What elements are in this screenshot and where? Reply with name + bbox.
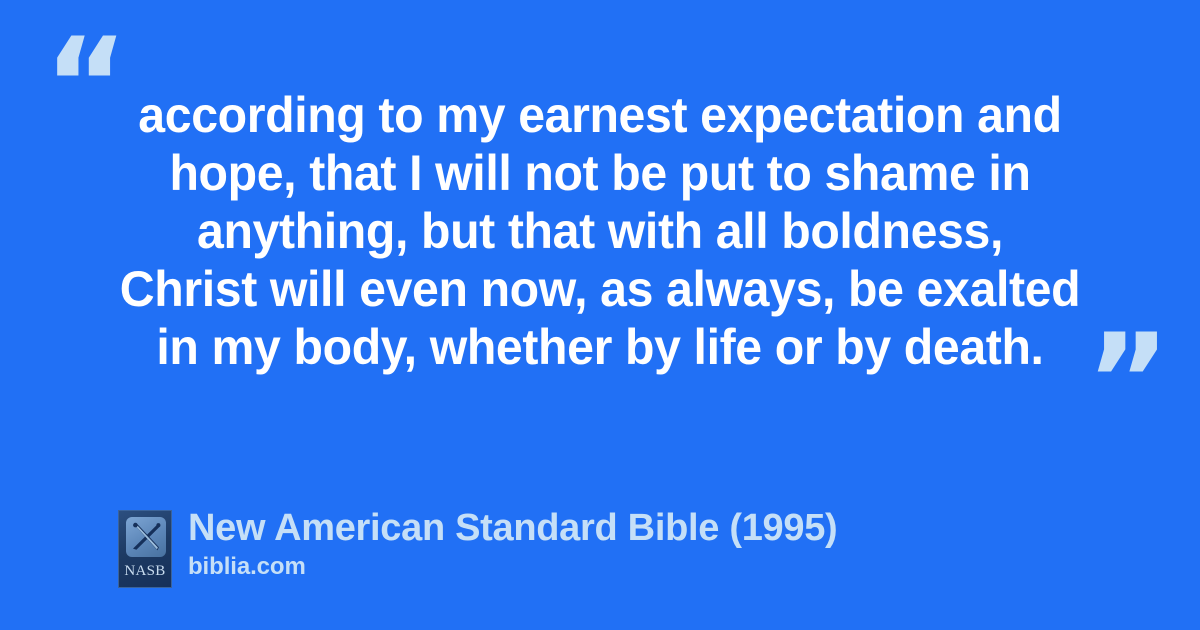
nasb-logo-icon: NASB	[118, 510, 172, 588]
source-url[interactable]: biblia.com	[188, 552, 837, 582]
quote-text-block: according to my earnest expectation and …	[60, 86, 1140, 376]
quote-line: hope, that I will not be put to shame in	[79, 144, 1121, 202]
attribution: NASB New American Standard Bible (1995) …	[118, 506, 837, 588]
bible-verse-quote-card: “ according to my earnest expectation an…	[0, 0, 1200, 630]
source-title: New American Standard Bible (1995)	[188, 506, 837, 550]
quote-line: in my body, whether by life or by death.	[79, 318, 1121, 376]
quote-line: Christ will even now, as always, be exal…	[79, 260, 1121, 318]
quote-line: according to my earnest expectation and	[79, 86, 1121, 144]
nasb-logo-emblem	[126, 517, 166, 557]
attribution-text: New American Standard Bible (1995) bibli…	[188, 506, 837, 582]
quote-line: anything, but that with all boldness,	[79, 202, 1121, 260]
nasb-logo-label: NASB	[119, 564, 171, 579]
close-quote-icon: ”	[1086, 318, 1170, 446]
